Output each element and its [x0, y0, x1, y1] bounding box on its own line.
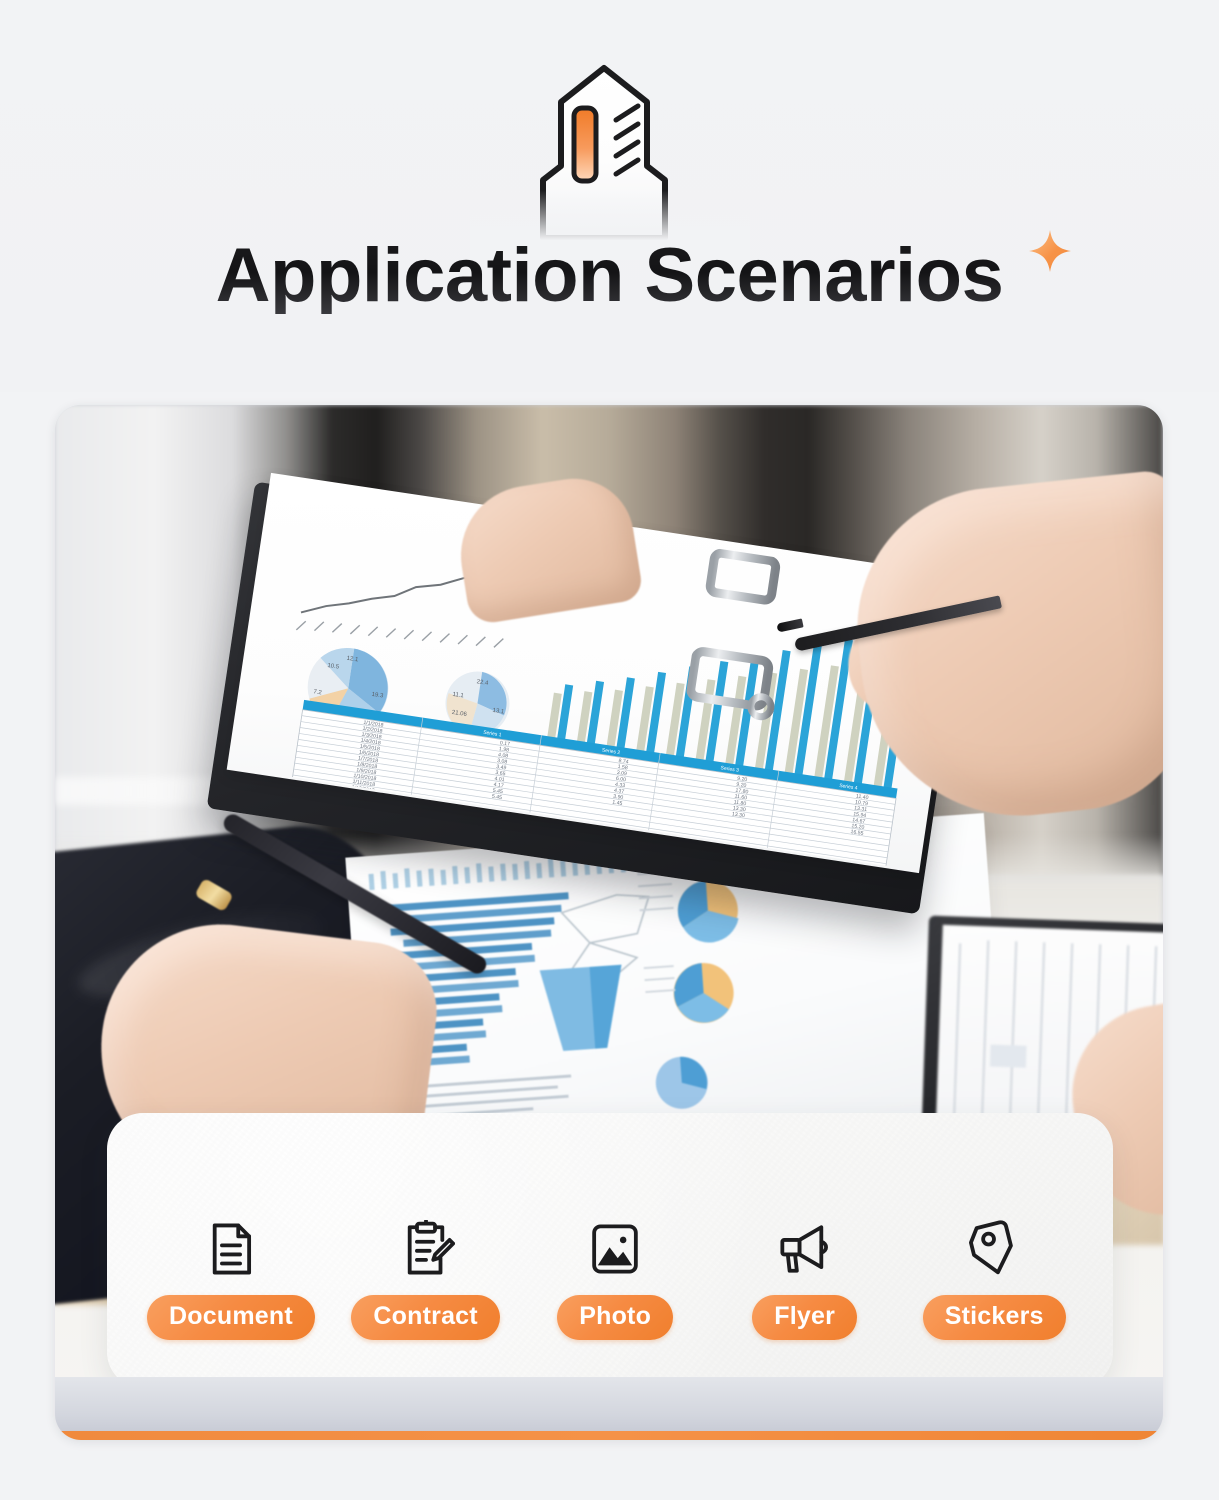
- feature-item-flyer[interactable]: Flyer: [726, 1217, 884, 1340]
- feature-item-document[interactable]: Document: [147, 1217, 315, 1340]
- clipboard-pencil-icon: [394, 1217, 458, 1281]
- sparkle-star-icon: [1027, 228, 1073, 274]
- svg-text:5.45: 5.45: [491, 794, 502, 801]
- image-icon: [583, 1217, 647, 1281]
- feature-label-photo: Photo: [557, 1295, 673, 1340]
- feature-item-stickers[interactable]: Stickers: [915, 1217, 1073, 1340]
- page-title: Application Scenarios: [216, 238, 1004, 314]
- document-icon: [199, 1217, 263, 1281]
- megaphone-icon: [773, 1217, 837, 1281]
- feature-label-document: Document: [147, 1295, 315, 1340]
- page-header: Application Scenarios: [0, 0, 1219, 392]
- price-tag-icon: [962, 1217, 1026, 1281]
- feature-label-flyer: Flyer: [752, 1295, 857, 1340]
- feature-item-photo[interactable]: Photo: [536, 1217, 694, 1340]
- feature-item-contract[interactable]: Contract: [347, 1217, 505, 1340]
- scenario-feature-card: Document Contract: [107, 1113, 1113, 1388]
- feature-label-stickers: Stickers: [923, 1295, 1066, 1340]
- svg-text:1.45: 1.45: [612, 800, 623, 807]
- feature-list: Document Contract: [107, 1113, 1113, 1388]
- feature-label-contract: Contract: [351, 1295, 499, 1340]
- svg-text:7.2: 7.2: [313, 689, 323, 696]
